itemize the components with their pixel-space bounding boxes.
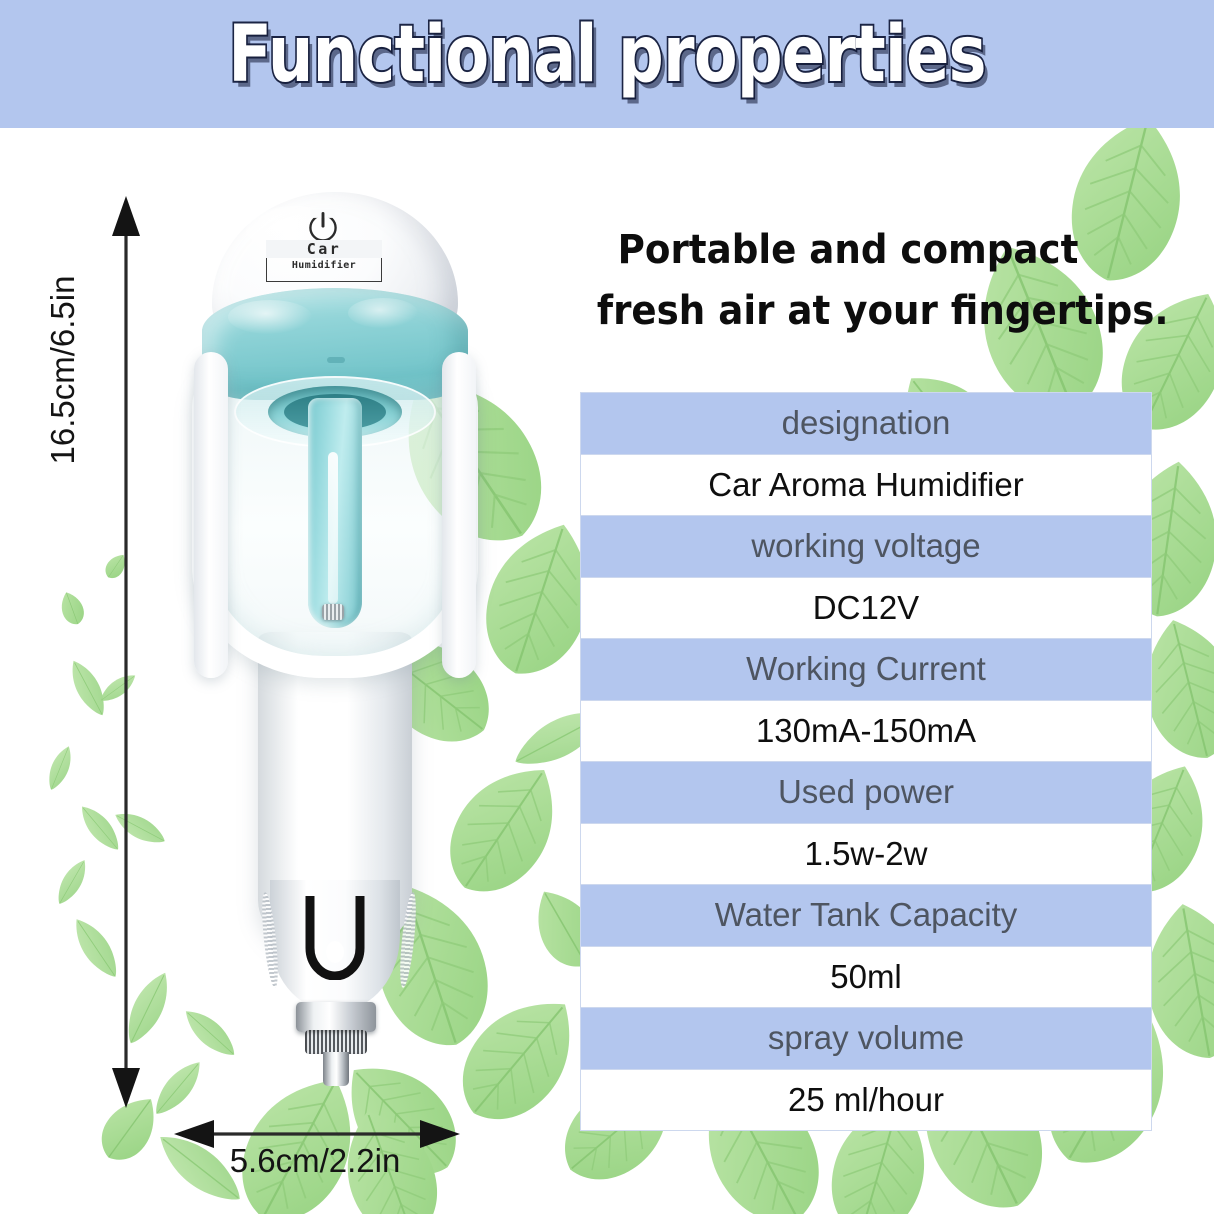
dimension-width-label: 5.6cm/2.2in [175, 1142, 455, 1180]
spec-value-row: Car Aroma Humidifier [581, 455, 1151, 517]
page-title: Functional properties [109, 10, 1104, 100]
tagline-line-1: Portable and compact [597, 220, 1099, 281]
spec-value-row: DC12V [581, 578, 1151, 640]
spec-value-row: 50ml [581, 947, 1151, 1009]
spec-label-row: working voltage [581, 516, 1151, 578]
infographic-page: Functional properties Car Humidifier [0, 0, 1214, 1214]
spec-value-row: 130mA-150mA [581, 701, 1151, 763]
spec-label-row: Used power [581, 762, 1151, 824]
tagline-line-2: fresh air at your fingertips. [597, 281, 1099, 342]
spec-label-row: designation [581, 393, 1151, 455]
header-band: Functional properties [0, 0, 1214, 128]
spec-label-row: spray volume [581, 1008, 1151, 1070]
spec-value-row: 25 ml/hour [581, 1070, 1151, 1132]
tagline: Portable and compact fresh air at your f… [597, 220, 1099, 342]
spec-value-row: 1.5w-2w [581, 824, 1151, 886]
spec-label-row: Water Tank Capacity [581, 885, 1151, 947]
spec-label-row: Working Current [581, 639, 1151, 701]
specification-table: designationCar Aroma Humidifierworking v… [580, 392, 1152, 1131]
dimension-height-label: 16.5cm/6.5in [44, 220, 82, 520]
